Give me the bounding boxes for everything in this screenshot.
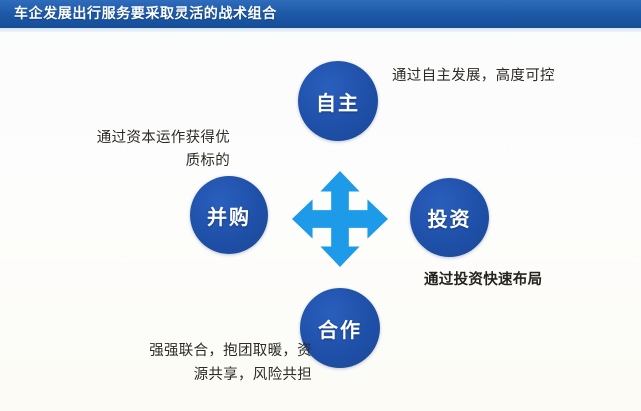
diagram-node-label: 自主	[316, 87, 360, 116]
diagram-node-hezuo[interactable]: 合作	[300, 288, 380, 368]
diagram-node-touzi[interactable]: 投资	[410, 178, 489, 257]
caption-touzi: 通过投资快速布局	[424, 269, 542, 292]
diagram-node-label: 合作	[318, 314, 362, 343]
diagram-node-label: 并购	[207, 201, 251, 230]
caption-hezuo: 强强联合，抱团取暖，资 源共享，风险共担	[86, 339, 312, 387]
caption-binggou: 通过资本运作获得优 质标的	[38, 127, 230, 173]
four-way-arrow-icon	[291, 170, 389, 268]
diagram-node-label: 投资	[428, 203, 472, 232]
diagram-node-binggou[interactable]: 并购	[190, 176, 268, 254]
caption-zizhu: 通过自主发展，高度可控	[392, 65, 555, 88]
slide-canvas: 车企发展出行服务要采取灵活的战术组合 自主 并购 投资 合作 通过自主发展，高度…	[0, 0, 641, 411]
diagram-canvas: 自主 并购 投资 合作 通过自主发展，高度可控 通过资本运作获得优 质标的 通过…	[0, 32, 641, 411]
header-bar: 车企发展出行服务要采取灵活的战术组合	[0, 0, 641, 28]
page-title: 车企发展出行服务要采取灵活的战术组合	[14, 4, 277, 24]
diagram-node-zizhu[interactable]: 自主	[298, 61, 378, 141]
